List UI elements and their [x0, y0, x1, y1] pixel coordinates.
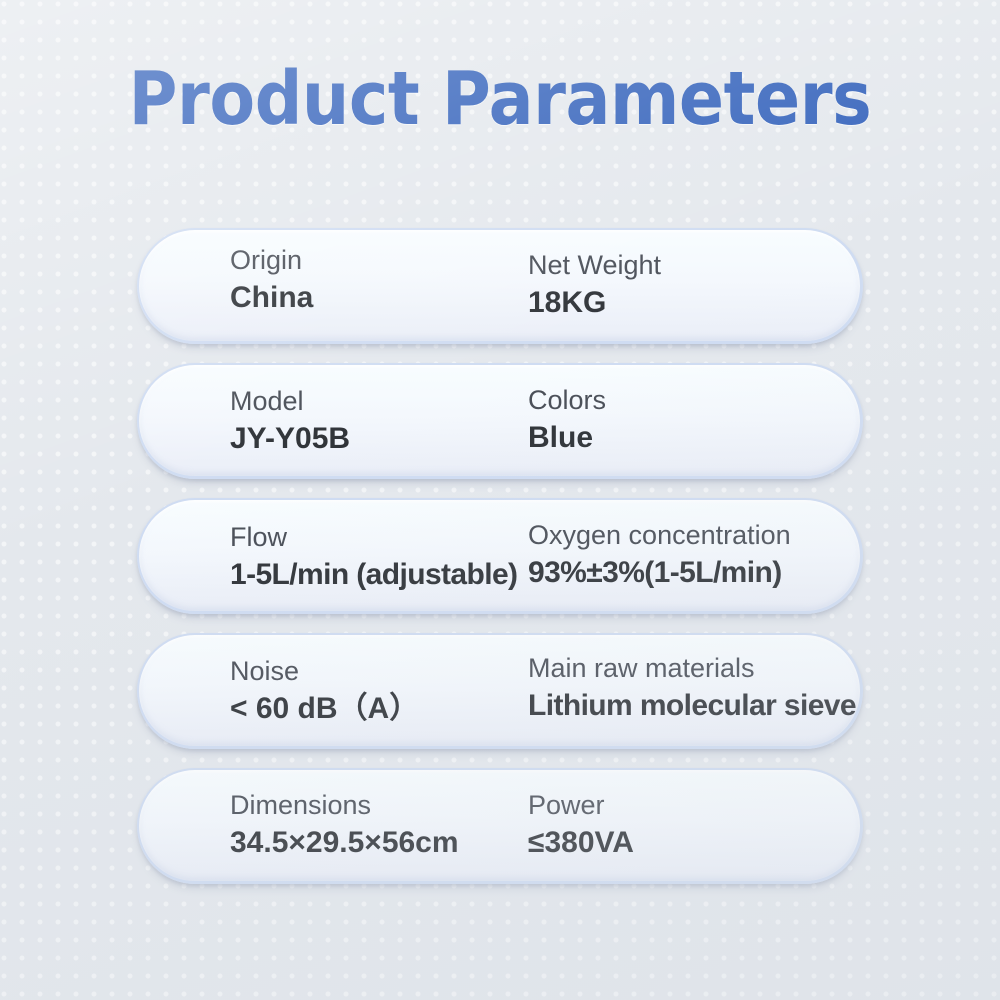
parameter-card: Noise < 60 dB（A） Main raw materials Lith… [137, 633, 863, 749]
parameter-label: Origin [230, 244, 528, 277]
parameter-cell-left: Noise < 60 dB（A） [230, 636, 528, 747]
parameter-value: 93%±3%(1-5L/min) [528, 555, 860, 592]
parameter-value: 18KG [528, 285, 860, 322]
parameter-cell-left: Dimensions 34.5×29.5×56cm [230, 770, 528, 881]
parameter-value: < 60 dB（A） [230, 691, 528, 728]
parameter-card: Model JY-Y05B Colors Blue [137, 363, 863, 479]
parameter-cell-left: Model JY-Y05B [230, 366, 528, 477]
parameter-label: Colors [528, 384, 860, 417]
parameter-card: Flow 1-5L/min (adjustable) Oxygen concen… [137, 498, 863, 614]
parameter-card-list: Origin China Net Weight 18KG Model JY-Y0… [137, 228, 863, 884]
page-title: Product Parameters [50, 62, 950, 136]
parameter-cell-right: Power ≤380VA [528, 770, 860, 881]
parameter-cell-right: Net Weight 18KG [528, 230, 860, 341]
parameter-label: Net Weight [528, 249, 860, 282]
parameter-value: JY-Y05B [230, 421, 528, 458]
parameter-label: Main raw materials [528, 652, 860, 685]
parameter-value: 1-5L/min (adjustable) [230, 557, 528, 594]
parameter-label: Flow [230, 521, 528, 554]
parameter-cell-right: Colors Blue [528, 365, 860, 476]
parameter-cell-right: Main raw materials Lithium molecular sie… [528, 633, 860, 744]
parameter-cell-right: Oxygen concentration 93%±3%(1-5L/min) [528, 500, 860, 611]
parameter-label: Oxygen concentration [528, 519, 860, 552]
parameter-value: Blue [528, 420, 860, 457]
parameter-label: Dimensions [230, 789, 528, 822]
parameter-value: Lithium molecular sieve [528, 688, 860, 725]
parameter-label: Model [230, 385, 528, 418]
parameter-label: Noise [230, 655, 528, 688]
parameter-cell-left: Flow 1-5L/min (adjustable) [230, 502, 528, 613]
parameter-cell-left: Origin China [230, 225, 528, 336]
parameter-value: China [230, 280, 528, 317]
parameter-value: ≤380VA [528, 825, 860, 862]
parameter-value: 34.5×29.5×56cm [230, 825, 528, 862]
page-background: Product Parameters Origin China Net Weig… [0, 0, 1000, 1000]
parameter-label: Power [528, 789, 860, 822]
parameter-card: Dimensions 34.5×29.5×56cm Power ≤380VA [137, 768, 863, 884]
parameter-card: Origin China Net Weight 18KG [137, 228, 863, 344]
